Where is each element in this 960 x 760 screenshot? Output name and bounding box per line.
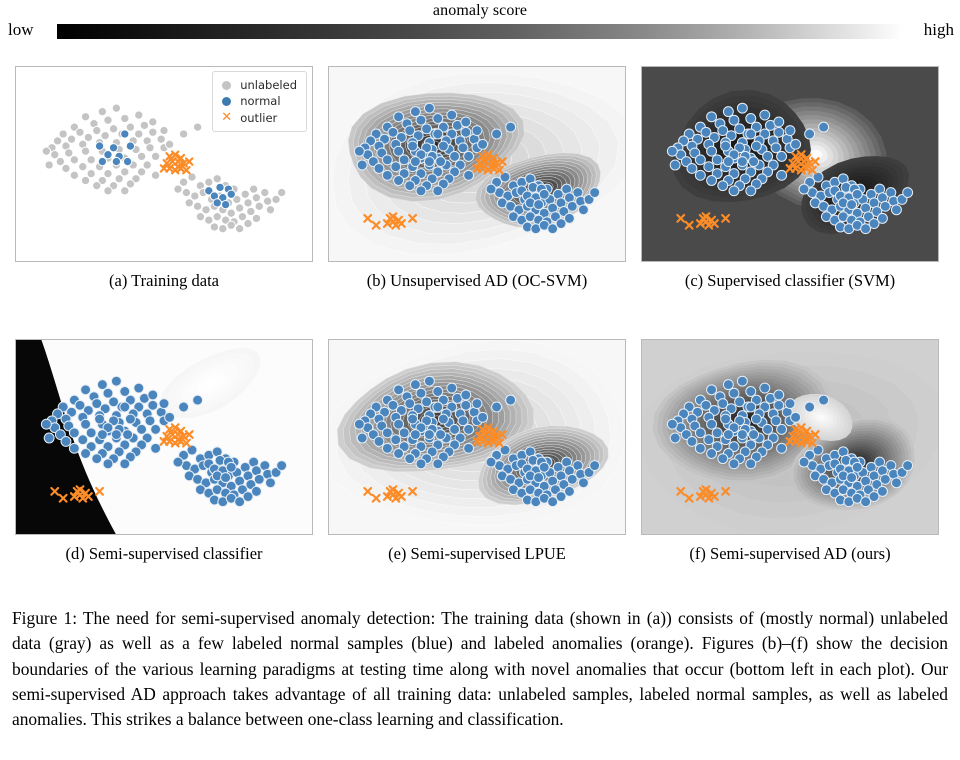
data-point [120, 402, 130, 412]
data-point [354, 419, 364, 429]
legend: unlabeled normal ✕ outlier [212, 71, 307, 132]
panel-d-plot [15, 339, 313, 535]
data-point [81, 176, 89, 184]
data-point [410, 380, 420, 390]
data-point [137, 152, 145, 160]
data-point [112, 104, 120, 112]
data-point [221, 200, 229, 208]
data-point [433, 387, 443, 397]
data-point [534, 200, 544, 210]
legend-item-outlier: ✕ outlier [220, 110, 297, 126]
data-point [534, 473, 544, 483]
data-point [746, 114, 756, 124]
data-point [121, 168, 129, 176]
data-point [670, 160, 680, 170]
data-point [433, 459, 443, 469]
data-point [464, 443, 474, 453]
circle-icon [220, 95, 233, 108]
data-point [852, 462, 862, 472]
data-point [771, 416, 781, 426]
data-point [405, 454, 415, 464]
data-point [704, 435, 714, 445]
data-point [93, 181, 101, 189]
data-point [151, 152, 159, 160]
colorbar-region: anomaly score low high [0, 0, 960, 48]
data-point [252, 214, 260, 222]
data-point [173, 457, 183, 467]
data-point [121, 114, 129, 122]
data-point [210, 223, 218, 231]
data-point [137, 168, 145, 176]
data-point [213, 199, 221, 207]
data-point [137, 424, 147, 434]
data-point [120, 459, 130, 469]
data-point [84, 133, 92, 141]
data-point [799, 457, 809, 467]
data-point [464, 151, 474, 161]
data-point [399, 428, 409, 438]
panel-d-semi-supervised-classifier: (d) Semi-supervised classifier [15, 339, 313, 535]
data-point [42, 147, 50, 155]
data-point [261, 188, 269, 196]
data-point [79, 163, 87, 171]
data-point [382, 428, 392, 438]
data-point [382, 170, 392, 180]
data-point [799, 184, 809, 194]
colorbar-low-label: low [8, 20, 34, 40]
data-point [877, 213, 887, 223]
data-point [151, 443, 161, 453]
data-point [774, 400, 784, 410]
data-point [450, 424, 460, 434]
data-point [51, 150, 59, 158]
data-point [382, 443, 392, 453]
circle-icon [220, 79, 233, 92]
data-point [774, 390, 784, 400]
data-point [126, 142, 134, 150]
data-point [191, 192, 199, 200]
data-point [590, 461, 600, 471]
data-point [160, 126, 168, 134]
data-point [104, 187, 112, 195]
data-point [777, 424, 787, 434]
data-point [81, 385, 91, 395]
data-point [123, 430, 133, 440]
data-point [410, 107, 420, 117]
data-point [95, 414, 105, 424]
data-point [737, 430, 747, 440]
data-point [112, 157, 120, 165]
data-point [774, 117, 784, 127]
data-point [98, 157, 106, 165]
data-point [847, 473, 857, 483]
data-point [394, 112, 404, 122]
data-point [746, 129, 756, 139]
data-point [695, 170, 705, 180]
data-point [70, 156, 78, 164]
data-point [148, 390, 158, 400]
data-point [219, 225, 227, 233]
data-point [506, 122, 516, 132]
data-point [252, 194, 260, 202]
data-point [399, 155, 409, 165]
data-point [179, 130, 187, 138]
data-point [408, 414, 418, 424]
data-point [249, 185, 257, 193]
colorbar-title: anomaly score [0, 2, 960, 20]
data-point [182, 188, 190, 196]
data-point [101, 132, 109, 140]
data-point [263, 197, 271, 205]
data-point [438, 414, 448, 424]
data-point [104, 150, 112, 158]
figure-caption: Figure 1: The need for semi-supervised a… [12, 606, 948, 733]
data-point [382, 155, 392, 165]
data-point [737, 376, 747, 386]
data-point [578, 205, 588, 215]
data-point [92, 454, 102, 464]
data-point [763, 424, 773, 434]
data-point [707, 146, 717, 156]
data-point [774, 127, 784, 137]
legend-label-outlier: outlier [240, 110, 277, 126]
data-point [81, 419, 91, 429]
data-point [244, 199, 252, 207]
data-point [53, 137, 61, 145]
data-point [272, 195, 280, 203]
data-point [277, 188, 285, 196]
data-point [695, 428, 705, 438]
data-point [492, 402, 502, 412]
data-point [424, 157, 434, 167]
data-point [227, 209, 235, 217]
data-point [238, 213, 246, 221]
data-point [405, 181, 415, 191]
data-point [357, 160, 367, 170]
panel-e-svg [329, 340, 625, 534]
data-point [65, 149, 73, 157]
data-point [165, 412, 175, 422]
data-point [97, 380, 107, 390]
data-point [746, 387, 756, 397]
data-point [157, 135, 165, 143]
data-point [244, 219, 252, 227]
data-point [712, 428, 722, 438]
data-point [174, 185, 182, 193]
data-point [695, 443, 705, 453]
data-point [670, 433, 680, 443]
data-point [123, 157, 131, 165]
data-point [424, 430, 434, 440]
data-point [151, 171, 159, 179]
data-point [486, 457, 496, 467]
data-point [749, 157, 759, 167]
data-point [226, 462, 236, 472]
data-point [394, 419, 404, 429]
legend-label-normal: normal [240, 93, 280, 109]
data-point [852, 189, 862, 199]
legend-item-unlabeled: unlabeled [220, 77, 297, 93]
data-point [791, 412, 801, 422]
data-point [791, 139, 801, 149]
data-point [847, 200, 857, 210]
data-point [464, 170, 474, 180]
data-point [785, 126, 795, 136]
data-point [785, 399, 795, 409]
data-point [205, 178, 213, 186]
data-point [737, 103, 747, 113]
panel-f-semi-supervised-ad: (f) Semi-supervised AD (ours) [641, 339, 939, 535]
data-point [416, 186, 426, 196]
data-point [723, 107, 733, 117]
data-point [461, 390, 471, 400]
data-point [247, 207, 255, 215]
data-point [111, 376, 121, 386]
colorbar-high-label: high [924, 20, 954, 40]
data-point [145, 416, 155, 426]
data-point [478, 139, 488, 149]
panel-f-svg [642, 340, 938, 534]
data-point [464, 424, 474, 434]
data-point [255, 202, 263, 210]
data-point [391, 435, 401, 445]
data-point [61, 436, 71, 446]
data-point [56, 157, 64, 165]
data-point [135, 130, 143, 138]
data-point [416, 459, 426, 469]
data-point [729, 388, 739, 398]
data-point [394, 449, 404, 459]
data-point [151, 424, 161, 434]
data-point [165, 140, 173, 148]
data-point [712, 155, 722, 165]
data-point [241, 190, 249, 198]
data-point [564, 213, 574, 223]
data-point [277, 461, 287, 471]
data-point [771, 143, 781, 153]
data-point [478, 412, 488, 422]
data-point [891, 478, 901, 488]
data-point [265, 478, 275, 488]
data-point [539, 462, 549, 472]
data-point [202, 206, 210, 214]
data-point [120, 387, 130, 397]
data-point [115, 175, 123, 183]
data-point [506, 395, 516, 405]
data-point [140, 121, 148, 129]
data-point [44, 433, 54, 443]
data-point [718, 454, 728, 464]
data-point [667, 419, 677, 429]
legend-item-normal: normal [220, 93, 297, 109]
data-point [707, 112, 717, 122]
data-point [374, 436, 384, 446]
data-point [723, 157, 733, 167]
data-point [737, 157, 747, 167]
data-point [667, 146, 677, 156]
data-point [721, 141, 731, 151]
data-point [707, 176, 717, 186]
data-point [109, 144, 117, 152]
data-point [777, 151, 787, 161]
data-point [447, 110, 457, 120]
data-point [394, 385, 404, 395]
data-point [707, 449, 717, 459]
data-point [760, 383, 770, 393]
data-point [354, 146, 364, 156]
data-point [251, 486, 261, 496]
data-point [707, 385, 717, 395]
data-point [472, 126, 482, 136]
data-point [707, 419, 717, 429]
data-point [718, 181, 728, 191]
data-point [721, 414, 731, 424]
data-point [193, 202, 201, 210]
data-point [391, 162, 401, 172]
data-point [492, 129, 502, 139]
data-point [410, 430, 420, 440]
data-point [69, 428, 79, 438]
panel-c-supervised-classifier: (c) Supervised classifier (SVM) [641, 66, 939, 262]
data-point [760, 110, 770, 120]
data-point [374, 163, 384, 173]
data-point [357, 433, 367, 443]
data-point [805, 402, 815, 412]
x-icon: ✕ [220, 111, 233, 124]
data-point [777, 443, 787, 453]
data-point [67, 135, 75, 143]
panel-f-plot [641, 339, 939, 535]
data-point [729, 115, 739, 125]
data-point [76, 128, 84, 136]
data-point [87, 169, 95, 177]
colorbar-gradient [57, 24, 900, 39]
data-point [416, 388, 426, 398]
data-point [433, 402, 443, 412]
data-point [687, 163, 697, 173]
data-point [461, 117, 471, 127]
data-point [578, 478, 588, 488]
data-point [235, 225, 243, 233]
data-point [149, 128, 157, 136]
data-point [179, 402, 189, 412]
data-point [704, 162, 714, 172]
data-point [121, 130, 129, 138]
data-point [148, 400, 158, 410]
panel-f-caption: (f) Semi-supervised AD (ours) [601, 544, 960, 564]
data-point [424, 376, 434, 386]
data-point [891, 205, 901, 215]
data-point [216, 183, 224, 191]
data-point [424, 103, 434, 113]
data-point [416, 115, 426, 125]
data-point [134, 383, 144, 393]
data-point [126, 180, 134, 188]
data-point [179, 178, 187, 186]
data-point [125, 414, 135, 424]
data-point [805, 129, 815, 139]
data-point [70, 171, 78, 179]
data-point [81, 449, 91, 459]
data-point [877, 486, 887, 496]
data-point [564, 486, 574, 496]
data-point [45, 161, 53, 169]
data-point [438, 141, 448, 151]
data-point [687, 436, 697, 446]
panel-c-caption: (c) Supervised classifier (SVM) [601, 271, 960, 291]
data-point [87, 156, 95, 164]
data-point [159, 399, 169, 409]
data-point [539, 189, 549, 199]
data-point [433, 186, 443, 196]
data-point [213, 213, 221, 221]
data-point [695, 155, 705, 165]
panel-b-svg [329, 67, 625, 261]
data-point [205, 216, 213, 224]
data-point [111, 430, 121, 440]
data-point [729, 186, 739, 196]
data-point [98, 107, 106, 115]
data-point [746, 459, 756, 469]
panel-c-svg [642, 67, 938, 261]
data-point [903, 188, 913, 198]
data-point [41, 419, 51, 429]
data-point [126, 123, 134, 131]
data-point [62, 164, 70, 172]
data-point [95, 142, 103, 150]
data-point [723, 430, 733, 440]
data-point [903, 461, 913, 471]
panel-b-unsupervised-ad: (b) Unsupervised AD (OC-SVM) [328, 66, 626, 262]
data-point [103, 459, 113, 469]
data-point [235, 204, 243, 212]
data-point [723, 380, 733, 390]
data-point [749, 430, 759, 440]
data-point [81, 147, 89, 155]
data-point [121, 187, 129, 195]
data-point [69, 443, 79, 453]
data-point [408, 141, 418, 151]
data-point [458, 143, 468, 153]
data-point [104, 116, 112, 124]
data-point [433, 114, 443, 124]
data-point [193, 395, 203, 405]
panel-c-plot [641, 66, 939, 262]
data-point [78, 435, 88, 445]
data-point [394, 176, 404, 186]
data-point [777, 170, 787, 180]
data-point [103, 388, 113, 398]
legend-label-unlabeled: unlabeled [240, 77, 297, 93]
data-point [266, 206, 274, 214]
data-point [193, 123, 201, 131]
data-point [729, 459, 739, 469]
data-point [461, 400, 471, 410]
panel-e-plot [328, 339, 626, 535]
data-point [819, 122, 829, 132]
data-point [436, 430, 446, 440]
data-point [86, 428, 96, 438]
data-point [486, 184, 496, 194]
panel-d-svg [16, 340, 312, 534]
data-point [227, 221, 235, 229]
data-point [146, 144, 154, 152]
data-point [59, 130, 67, 138]
data-point [410, 157, 420, 167]
data-point [196, 213, 204, 221]
panel-b-plot [328, 66, 626, 262]
data-point [149, 118, 157, 126]
